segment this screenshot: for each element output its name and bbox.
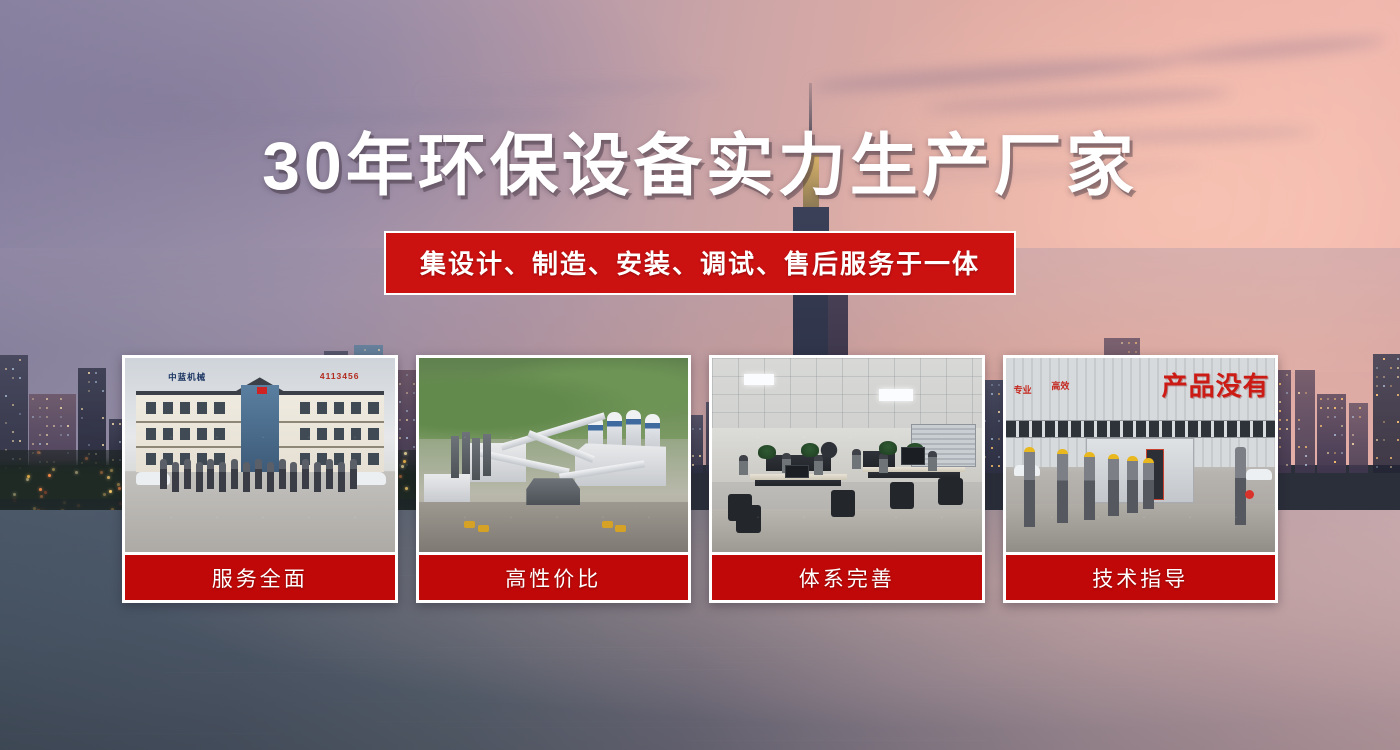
- shore-light: [103, 493, 106, 496]
- building-window: [1383, 385, 1385, 387]
- building-window: [1376, 466, 1378, 468]
- building-window: [60, 398, 62, 400]
- building-window: [12, 440, 14, 442]
- factory-worker: [1108, 456, 1119, 516]
- potted-plant: [879, 441, 897, 455]
- shore-light: [27, 475, 30, 478]
- feature-card[interactable]: 产品没有 专业 高效 技术指导: [1003, 355, 1279, 603]
- water-ripple: [796, 738, 971, 739]
- building-window: [1298, 428, 1300, 430]
- drop-ceiling: [712, 358, 982, 428]
- page-title: 30年环保设备实力生产厂家: [0, 132, 1400, 200]
- building-window: [1334, 398, 1336, 400]
- shore-light: [117, 483, 120, 486]
- building-window: [88, 372, 90, 374]
- building-window: [1341, 425, 1343, 427]
- building-window: [1128, 351, 1130, 353]
- parked-car: [1246, 469, 1272, 480]
- skyline-building: [1373, 354, 1400, 473]
- office-worker: [852, 449, 861, 469]
- building-window: [1390, 367, 1392, 369]
- building-window: [1298, 446, 1300, 448]
- subtitle-badge: 集设计、制造、安装、调试、售后服务于一体: [384, 231, 1016, 295]
- staff-member: [184, 459, 191, 489]
- factory-worker: [1143, 461, 1154, 510]
- factory-worker: [1024, 449, 1035, 527]
- water-ripple: [300, 657, 663, 658]
- shore-light: [13, 493, 16, 496]
- building-window: [1390, 457, 1392, 459]
- building-window: [67, 425, 69, 427]
- construction-machine: [464, 521, 475, 528]
- building-window: [1334, 407, 1336, 409]
- building-window: [1305, 455, 1307, 457]
- building-window: [1135, 342, 1137, 344]
- factory-workers-training-photo: 产品没有 专业 高效: [1006, 358, 1276, 552]
- water-ripple: [624, 669, 740, 670]
- building-window: [1279, 437, 1281, 439]
- building-window: [214, 428, 224, 440]
- facade-slogan-small: 专业: [1014, 383, 1032, 396]
- building-window: [1341, 398, 1343, 400]
- card-caption: 体系完善: [712, 552, 982, 600]
- process-stack: [451, 436, 459, 479]
- hard-hat: [1143, 458, 1154, 463]
- building-window: [300, 428, 310, 440]
- building-window: [32, 416, 34, 418]
- building-window: [19, 359, 21, 361]
- water-ripple: [438, 727, 766, 728]
- building-window: [46, 425, 48, 427]
- card-caption: 服务全面: [125, 552, 395, 600]
- building-window: [1327, 416, 1329, 418]
- aerial-industrial-plant-photo: [419, 358, 689, 552]
- potted-plant: [801, 443, 819, 457]
- building-window: [351, 428, 361, 440]
- building-window: [39, 416, 41, 418]
- staff-member: [302, 459, 309, 489]
- feature-card[interactable]: 高性价比: [416, 355, 692, 603]
- shore-light: [107, 476, 110, 479]
- building-window: [1352, 443, 1354, 445]
- building-window: [67, 434, 69, 436]
- factory-roller-door: [1086, 438, 1194, 504]
- building-window: [5, 368, 7, 370]
- building-window: [1359, 416, 1361, 418]
- building-window: [81, 417, 83, 419]
- building-window: [1286, 428, 1288, 430]
- building-window: [1390, 385, 1392, 387]
- hard-hat: [1084, 452, 1095, 457]
- staff-member: [326, 459, 333, 489]
- office-interior-staff-photo: [712, 358, 982, 552]
- building-window: [95, 372, 97, 374]
- water-ripple: [375, 721, 736, 722]
- staff-member: [207, 459, 214, 489]
- building-window: [334, 402, 344, 414]
- building-window: [197, 402, 207, 414]
- building-phone-label: 4113456: [320, 371, 360, 381]
- monitor: [901, 447, 925, 464]
- building-window: [1286, 392, 1288, 394]
- building-window: [197, 428, 207, 440]
- shore-light: [48, 474, 51, 477]
- building-window: [1320, 425, 1322, 427]
- parked-car: [352, 472, 386, 485]
- building-window: [1128, 342, 1130, 344]
- office-worker: [739, 455, 748, 475]
- building-window: [12, 377, 14, 379]
- hard-hat: [1127, 456, 1138, 461]
- building-window: [1327, 452, 1329, 454]
- promo-banner: 30年环保设备实力生产厂家 集设计、制造、安装、调试、售后服务于一体 中蓝机械 …: [0, 0, 1400, 750]
- factory-worker: [1084, 454, 1095, 520]
- building-window: [19, 377, 21, 379]
- subtitle-container: 集设计、制造、安装、调试、售后服务于一体: [0, 231, 1400, 295]
- building-window: [317, 428, 327, 440]
- building-window: [1359, 407, 1361, 409]
- building-window: [1334, 416, 1336, 418]
- building-window: [102, 444, 104, 446]
- building-window: [1376, 367, 1378, 369]
- building-window: [1376, 457, 1378, 459]
- water-ripple: [780, 680, 1110, 681]
- building-window: [1390, 466, 1392, 468]
- building-window: [119, 423, 121, 425]
- card-caption: 技术指导: [1006, 552, 1276, 600]
- building-window: [5, 422, 7, 424]
- building-window: [32, 443, 34, 445]
- building-window: [1397, 376, 1399, 378]
- building-window: [300, 402, 310, 414]
- staff-member: [231, 459, 238, 489]
- building-window: [1352, 434, 1354, 436]
- water-ripple: [901, 687, 1147, 688]
- flag-icon: [257, 387, 267, 394]
- building-window: [1320, 398, 1322, 400]
- feature-card-row: 中蓝机械 4113456 服务全面 高性价比: [122, 355, 1278, 603]
- building-window: [32, 398, 34, 400]
- laptop: [785, 465, 809, 479]
- building-sign-label: 中蓝机械: [168, 371, 206, 383]
- staff-member: [338, 462, 345, 492]
- building-window: [60, 425, 62, 427]
- staff-member: [196, 462, 203, 492]
- building-window: [12, 404, 14, 406]
- building-window: [1298, 392, 1300, 394]
- building-window: [163, 428, 173, 440]
- potted-plant: [758, 445, 776, 459]
- staff-member: [290, 462, 297, 492]
- office-worker: [928, 451, 937, 471]
- building-window: [88, 390, 90, 392]
- building-window: [1397, 439, 1399, 441]
- building-window: [1327, 398, 1329, 400]
- building-window: [12, 368, 14, 370]
- building-window: [1341, 434, 1343, 436]
- shore-light: [44, 491, 47, 494]
- building-window: [1334, 452, 1336, 454]
- building-window: [39, 407, 41, 409]
- shore-light: [110, 469, 113, 472]
- building-window: [1376, 439, 1378, 441]
- facade-window-band: [1006, 420, 1276, 437]
- building-window: [1383, 376, 1385, 378]
- building-window: [1279, 446, 1281, 448]
- building-window: [39, 434, 41, 436]
- building-window: [102, 417, 104, 419]
- supervisor: [1235, 447, 1246, 525]
- building-window: [53, 425, 55, 427]
- shore-light: [85, 457, 88, 460]
- shore-light: [100, 471, 103, 474]
- building-window: [1383, 358, 1385, 360]
- building-window: [1279, 419, 1281, 421]
- building-window: [146, 428, 156, 440]
- building-window: [317, 402, 327, 414]
- shore-light: [75, 471, 78, 474]
- plant-shed: [424, 474, 470, 501]
- building-window: [378, 349, 380, 351]
- building-window: [1397, 421, 1399, 423]
- building-window: [5, 395, 7, 397]
- water-ripple: [2, 733, 281, 734]
- building-window: [146, 453, 156, 465]
- building-window: [1305, 464, 1307, 466]
- building-window: [1286, 464, 1288, 466]
- building-window: [1397, 394, 1399, 396]
- building-window: [19, 440, 21, 442]
- building-window: [1334, 434, 1336, 436]
- water-ripple: [687, 740, 988, 741]
- skyline-building: [1295, 370, 1315, 473]
- process-stack: [462, 432, 470, 475]
- building-window: [1305, 392, 1307, 394]
- office-worker: [879, 453, 888, 473]
- building-window: [46, 443, 48, 445]
- building-window: [180, 428, 190, 440]
- building-window: [60, 416, 62, 418]
- building-window: [1279, 401, 1281, 403]
- water-ripple: [952, 658, 1221, 659]
- building-window: [1286, 374, 1288, 376]
- water-ripple: [923, 616, 1077, 617]
- building-window: [12, 431, 14, 433]
- building-window: [1341, 407, 1343, 409]
- building-window: [1383, 439, 1385, 441]
- water-ripple: [248, 622, 389, 623]
- construction-machine: [602, 521, 613, 528]
- factory-worker: [1057, 452, 1068, 524]
- water-ripple: [509, 650, 874, 651]
- building-window: [1383, 421, 1385, 423]
- water-ripple: [330, 701, 643, 702]
- building-window: [1397, 358, 1399, 360]
- building-window: [46, 407, 48, 409]
- card-caption: 高性价比: [419, 552, 689, 600]
- building-window: [334, 428, 344, 440]
- office-building-staff-photo: 中蓝机械 4113456: [125, 358, 395, 552]
- water-ripple: [436, 647, 811, 648]
- water-ripple: [883, 629, 1312, 630]
- office-chair: [831, 490, 855, 517]
- building-window: [1327, 407, 1329, 409]
- building-window: [163, 402, 173, 414]
- building-window: [1279, 410, 1281, 412]
- building-window: [1121, 342, 1123, 344]
- building-window: [368, 428, 378, 440]
- process-stack: [483, 434, 491, 477]
- building-window: [81, 408, 83, 410]
- staff-member: [172, 462, 179, 492]
- building-window: [1305, 446, 1307, 448]
- feature-card[interactable]: 中蓝机械 4113456 服务全面: [122, 355, 398, 603]
- office-chair: [736, 505, 760, 532]
- building-window: [146, 402, 156, 414]
- building-window: [46, 398, 48, 400]
- building-window: [1341, 452, 1343, 454]
- skyline-building: [1317, 394, 1346, 473]
- office-chair: [938, 478, 962, 505]
- building-window: [39, 443, 41, 445]
- building-window: [119, 441, 121, 443]
- building-window: [180, 402, 190, 414]
- building-window: [1286, 419, 1288, 421]
- loading-canopy: [526, 478, 580, 505]
- ceiling-light: [879, 389, 913, 401]
- water-ripple: [712, 662, 1154, 663]
- building-window: [214, 402, 224, 414]
- building-window: [1376, 376, 1378, 378]
- building-window: [1397, 367, 1399, 369]
- building-window: [1298, 419, 1300, 421]
- plant-yard: [419, 502, 689, 552]
- shore-light: [39, 488, 42, 491]
- shore-light: [109, 490, 112, 493]
- staff-member: [243, 462, 250, 492]
- building-window: [112, 423, 114, 425]
- process-stack: [472, 438, 480, 481]
- building-window: [19, 413, 21, 415]
- building-window: [368, 402, 378, 414]
- water-ripple: [164, 672, 370, 673]
- office-worker: [814, 455, 823, 475]
- staff-member: [219, 462, 226, 492]
- shore-light: [37, 451, 40, 454]
- skyline-building: [1349, 403, 1368, 473]
- staff-member: [267, 462, 274, 492]
- building-window: [60, 434, 62, 436]
- staff-member: [314, 462, 321, 492]
- building-window: [368, 453, 378, 465]
- building-window: [364, 349, 366, 351]
- hard-hat: [1108, 454, 1119, 459]
- building-window: [1279, 383, 1281, 385]
- building-window: [88, 444, 90, 446]
- building-window: [102, 390, 104, 392]
- building-window: [60, 407, 62, 409]
- building-window: [95, 381, 97, 383]
- staff-member: [279, 459, 286, 489]
- staff-member: [160, 459, 167, 489]
- facade-slogan-small: 高效: [1051, 379, 1069, 392]
- shore-light: [52, 468, 55, 471]
- building-window: [1334, 461, 1336, 463]
- building-window: [1376, 394, 1378, 396]
- building-window: [1376, 385, 1378, 387]
- building-window: [1352, 416, 1354, 418]
- building-window: [351, 402, 361, 414]
- building-window: [1279, 428, 1281, 430]
- water-ripple: [856, 701, 966, 702]
- staff-member: [255, 459, 262, 489]
- building-window: [46, 416, 48, 418]
- ceiling-light: [744, 374, 774, 385]
- building-window: [1135, 351, 1137, 353]
- building-window: [46, 434, 48, 436]
- building-window: [88, 381, 90, 383]
- feature-card[interactable]: 体系完善: [709, 355, 985, 603]
- water-ripple: [97, 680, 460, 681]
- construction-machine: [615, 525, 626, 532]
- hard-hat: [1057, 449, 1068, 454]
- red-helmet-held: [1245, 490, 1254, 499]
- facade-slogan-large: 产品没有: [1162, 366, 1270, 403]
- shore-light: [118, 487, 121, 490]
- building-window: [1320, 407, 1322, 409]
- office-chair: [890, 482, 914, 509]
- staff-member: [350, 459, 357, 489]
- construction-machine: [478, 525, 489, 532]
- factory-worker: [1127, 458, 1138, 512]
- shore-light: [26, 478, 29, 481]
